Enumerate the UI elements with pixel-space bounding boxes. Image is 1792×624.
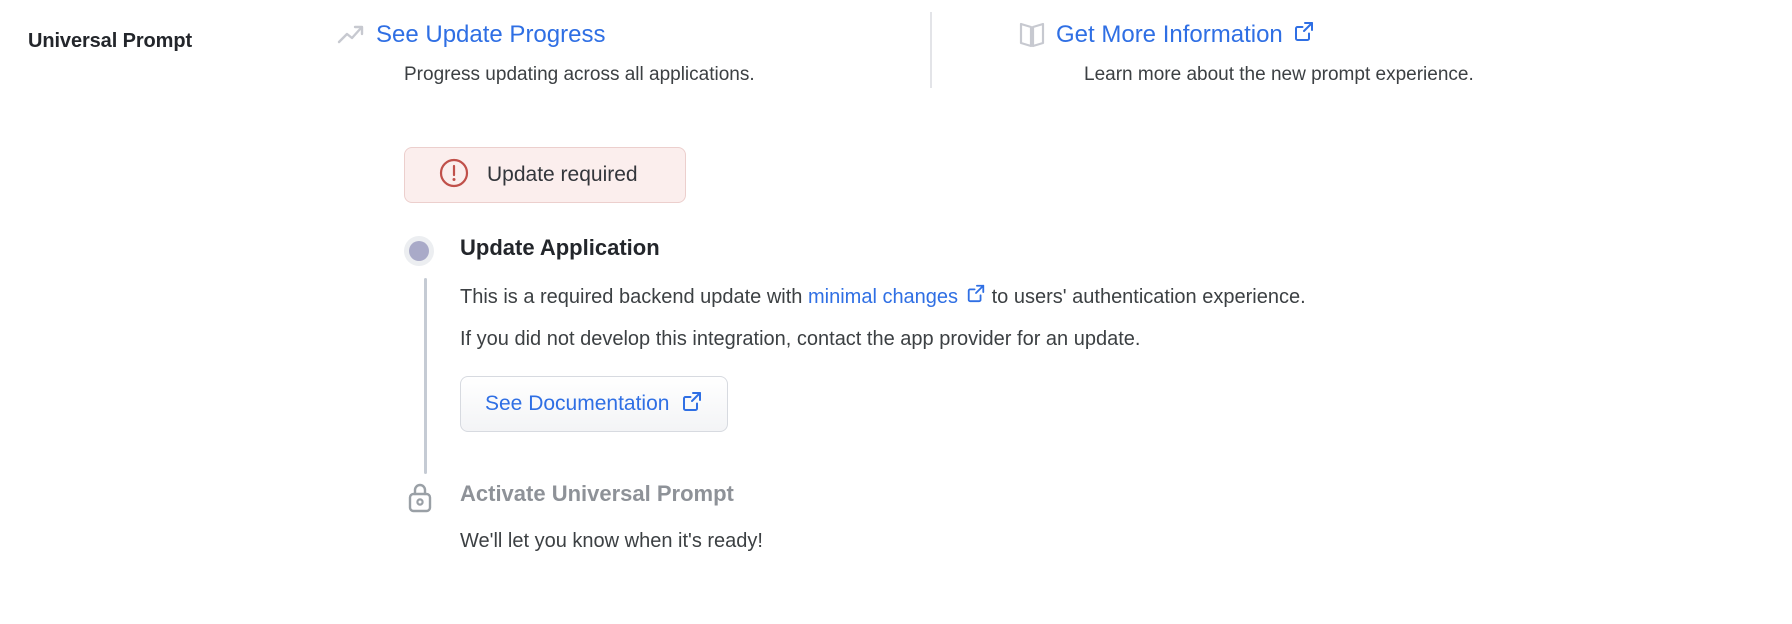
step-marker-locked [404,478,448,556]
minimal-changes-label: minimal changes [808,282,958,312]
see-update-progress-subtitle: Progress updating across all application… [404,62,755,88]
update-steps: Update Application This is a required ba… [404,232,1744,556]
see-update-progress-block: See Update Progress Progress updating ac… [336,18,755,88]
step-marker-active [404,232,448,432]
step-update-application: Update Application This is a required ba… [404,232,1744,432]
step-description-line-1: This is a required backend update with m… [460,282,1744,312]
get-more-information-subtitle: Learn more about the new prompt experien… [1084,62,1474,88]
lock-icon [404,501,436,518]
active-dot-inner [409,241,429,261]
get-more-information-block: Get More Information Learn more about th… [1016,18,1474,88]
status-badge-label: Update required [487,163,638,187]
page-title: Universal Prompt [28,30,192,53]
see-update-progress-link[interactable]: See Update Progress [376,18,605,52]
minimal-changes-link[interactable]: minimal changes [808,282,986,312]
alert-circle-icon [439,158,469,193]
step-activate-description: We'll let you know when it's ready! [460,526,1744,556]
header-divider [930,12,932,88]
step-activate-universal-prompt: Activate Universal Prompt We'll let you … [404,478,1744,556]
see-documentation-label: See Documentation [485,392,669,416]
external-link-icon [966,282,986,312]
universal-prompt-panel: Universal Prompt See Update Progress Pro… [0,0,1792,624]
get-more-information-label: Get More Information [1056,18,1283,52]
step-title-update-application: Update Application [460,232,1744,264]
active-dot-icon [404,236,434,266]
book-icon [1016,18,1056,52]
get-more-information-link[interactable]: Get More Information [1056,18,1315,52]
description-text-before: This is a required backend update with [460,286,808,308]
external-link-icon [681,390,703,418]
status-badge: Update required [404,147,686,203]
step-title-activate-universal-prompt: Activate Universal Prompt [460,478,1744,510]
see-documentation-button[interactable]: See Documentation [460,376,728,432]
panel-header: Universal Prompt See Update Progress Pro… [0,0,1792,112]
external-link-icon [1293,18,1315,52]
trend-up-icon [336,18,376,52]
description-text-after: to users' authentication experience. [986,286,1306,308]
step-description-line-2: If you did not develop this integration,… [460,324,1744,354]
